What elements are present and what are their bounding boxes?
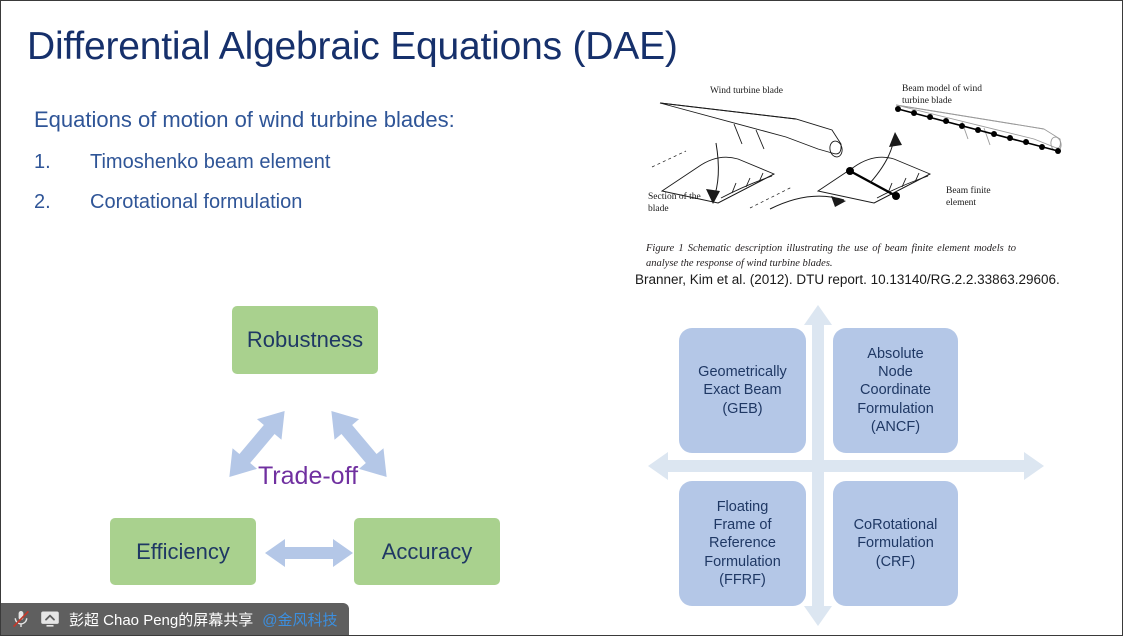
tradeoff-box-accuracy: Accuracy [354,518,500,585]
quadrant-box-ffrf: Floating Frame of Reference Formulation … [679,481,806,606]
quadrant-box-ffrf-label: Floating Frame of Reference Formulation … [704,498,781,589]
figure-label-section-line1: Section of the [648,191,701,202]
tradeoff-box-robustness: Robustness [232,306,378,374]
figure-label-beam-model-line2: turbine blade [902,96,952,106]
quadrant-box-geb: Geometrically Exact Beam (GEB) [679,328,806,453]
tradeoff-arrow-bottom [263,535,355,571]
figure-label-beam-fe-line2: element [946,198,976,208]
page-title: Differential Algebraic Equations (DAE) [27,25,678,69]
microphone-muted-icon[interactable] [11,609,31,629]
tradeoff-center-label: Trade-off [244,462,372,491]
quadrant-box-ancf: Absolute Node Coordinate Formulation (AN… [833,328,958,453]
slide-canvas: Differential Algebraic Equations (DAE) E… [0,0,1123,636]
screen-share-icon[interactable] [40,610,60,628]
figure-citation: Branner, Kim et al. (2012). DTU report. … [635,272,1060,287]
list-item-label: Corotational formulation [90,191,302,214]
tradeoff-box-efficiency: Efficiency [110,518,256,585]
screen-share-bar[interactable]: 彭超 Chao Peng的屏幕共享 @金风科技 [1,603,349,635]
quadrant-box-crf-label: CoRotational Formulation (CRF) [854,516,938,570]
figure-label-wind-turbine-blade: Wind turbine blade [710,86,783,96]
lead-text: Equations of motion of wind turbine blad… [34,107,455,133]
figure-label-beam-model-line1: Beam model of wind [902,83,982,94]
list-item: 1. Timoshenko beam element [34,151,454,177]
figure-label-section-line2: blade [648,204,669,214]
share-organization-label: @金风科技 [262,609,337,630]
formulation-quadrant-diagram: Geometrically Exact Beam (GEB) Absolute … [646,303,1046,628]
figure-caption: Figure 1 Schematic description illustrat… [646,242,1016,272]
list-item: 2. Corotational formulation [34,191,454,217]
list-item-number: 2. [34,191,51,214]
quadrant-box-ancf-label: Absolute Node Coordinate Formulation (AN… [857,345,934,436]
list-item-number: 1. [34,151,51,174]
wind-turbine-beam-figure: Wind turbine blade Beam model of wind tu… [646,81,1066,231]
share-presenter-label: 彭超 Chao Peng的屏幕共享 [69,609,253,630]
quadrant-box-geb-label: Geometrically Exact Beam (GEB) [698,363,787,417]
list-item-label: Timoshenko beam element [90,151,331,174]
figure-label-beam-fe-line1: Beam finite [946,185,991,196]
quadrant-box-crf: CoRotational Formulation (CRF) [833,481,958,606]
